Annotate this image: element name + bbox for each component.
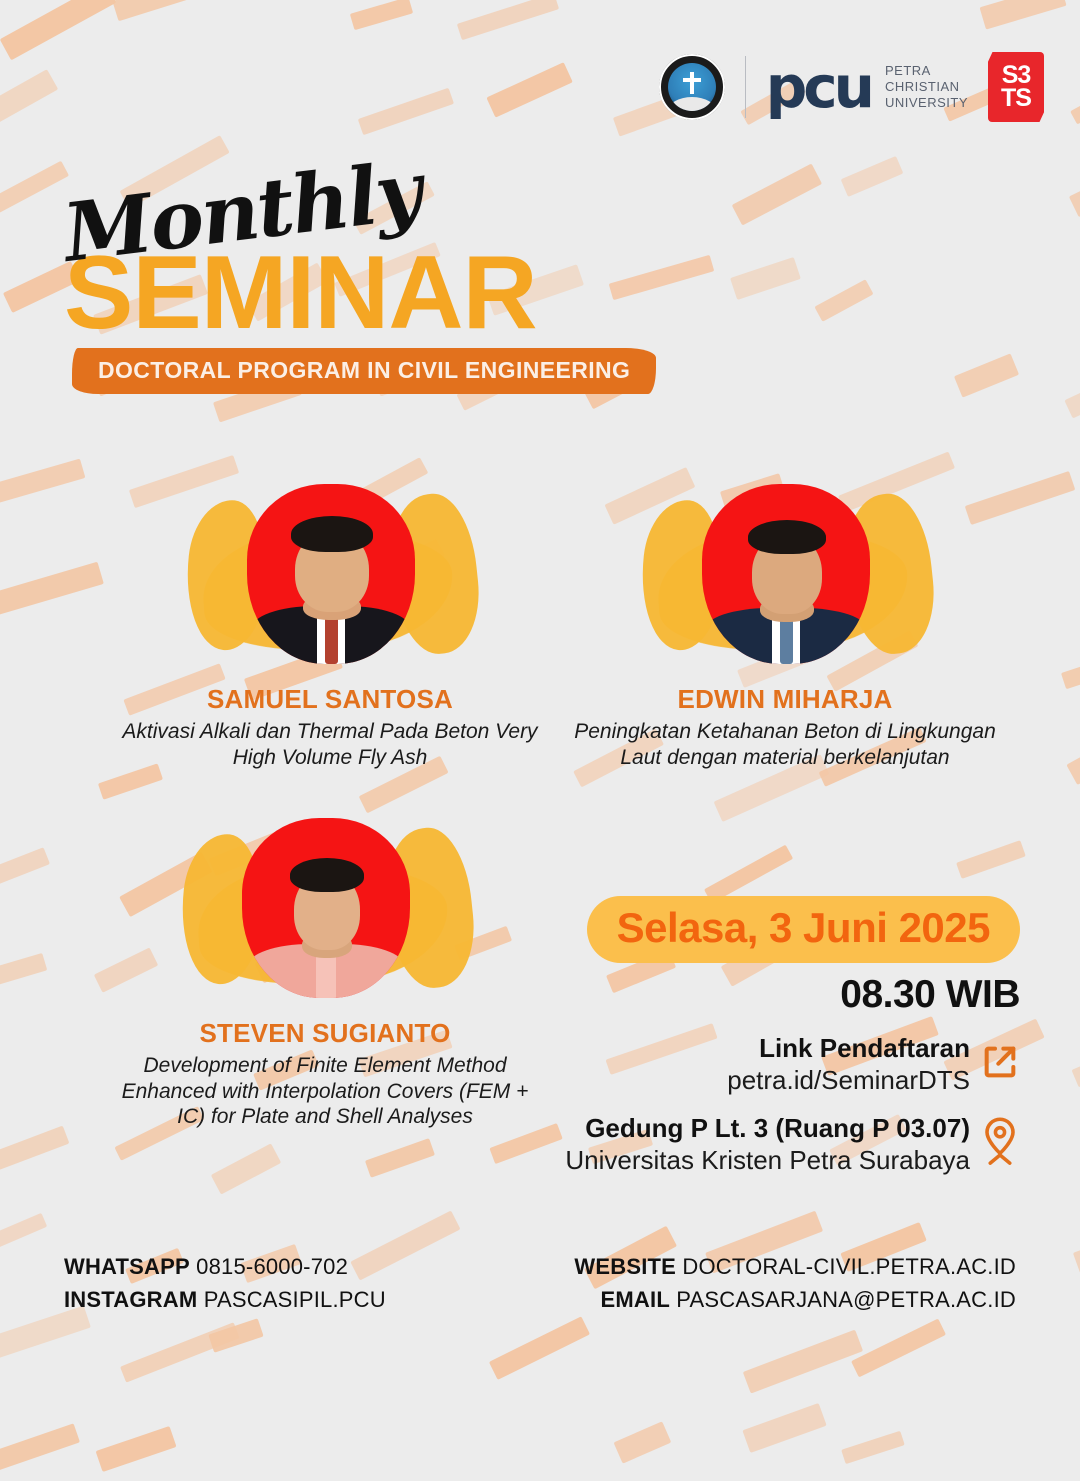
ukp-seal-logo <box>659 54 725 120</box>
event-details-panel: Selasa, 3 Juni 2025 08.30 WIB Link Penda… <box>560 896 1020 1176</box>
background-dash <box>120 1322 240 1383</box>
speaker-topic: Development of Finite Element Method Enh… <box>105 1053 545 1130</box>
background-dash <box>487 62 573 117</box>
title-block: Monthly SEMINAR DOCTORAL PROGRAM IN CIVI… <box>64 186 648 394</box>
background-dash <box>956 840 1026 879</box>
background-dash <box>1069 163 1080 216</box>
background-dash <box>851 1318 946 1377</box>
background-dash <box>743 1329 864 1393</box>
event-date-badge: Selasa, 3 Juni 2025 <box>587 896 1020 963</box>
logo-divider <box>745 56 746 118</box>
speaker-card: STEVEN SUGIANTO Development of Finite El… <box>105 812 545 1130</box>
registration-url[interactable]: petra.id/SeminarDTS <box>727 1064 970 1097</box>
background-dash <box>0 953 47 988</box>
background-dash <box>1066 726 1080 785</box>
footer-right: WEBSITE DOCTORAL-CIVIL.PETRA.AC.ID EMAIL… <box>574 1250 1016 1316</box>
background-dash <box>742 1403 826 1453</box>
email-value: PASCASARJANA@PETRA.AC.ID <box>676 1287 1016 1312</box>
background-dash <box>0 847 50 888</box>
title-subtitle-banner: DOCTORAL PROGRAM IN CIVIL ENGINEERING <box>72 348 656 394</box>
background-dash <box>0 458 85 511</box>
venue-room: Gedung P Lt. 3 (Ruang P 03.07) <box>565 1113 970 1144</box>
email-line: EMAIL PASCASARJANA@PETRA.AC.ID <box>574 1283 1016 1316</box>
background-dash <box>0 1126 70 1176</box>
event-time: 08.30 WIB <box>560 973 1020 1017</box>
registration-row[interactable]: Link Pendaftaran petra.id/SeminarDTS <box>560 1033 1020 1097</box>
avatar <box>247 484 415 664</box>
website-label: WEBSITE <box>574 1254 676 1279</box>
background-dash <box>0 69 58 138</box>
footer-left: WHATSAPP 0815-6000-702 INSTAGRAM PASCASI… <box>64 1250 386 1316</box>
pcu-wordmark: pcu <box>766 64 871 110</box>
instagram-line: INSTAGRAM PASCASIPIL.PCU <box>64 1283 386 1316</box>
pcu-name-line-3: UNIVERSITY <box>885 95 968 111</box>
background-dash <box>0 1213 47 1253</box>
background-dash <box>953 353 1018 397</box>
background-dash <box>1070 59 1080 125</box>
speaker-name: SAMUEL SANTOSA <box>115 684 545 715</box>
background-dash <box>112 0 225 21</box>
background-dash <box>1064 359 1080 418</box>
speaker-topic: Aktivasi Alkali dan Thermal Pada Beton V… <box>115 719 545 770</box>
pcu-fullname: PETRA CHRISTIAN UNIVERSITY <box>885 63 968 112</box>
background-dash <box>358 88 454 136</box>
whatsapp-label: WHATSAPP <box>64 1254 190 1279</box>
s3ts-caption: UNIVERSITAS KRISTEN PETRA <box>988 131 1044 145</box>
email-label: EMAIL <box>601 1287 670 1312</box>
pcu-name-line-1: PETRA <box>885 63 968 79</box>
cross-icon <box>690 72 694 94</box>
speaker-photo <box>690 478 880 668</box>
speaker-name: STEVEN SUGIANTO <box>105 1018 545 1049</box>
s3ts-logo: S3 TS UNIVERSITAS KRISTEN PETRA <box>988 52 1044 122</box>
speaker-card: SAMUEL SANTOSA Aktivasi Alkali dan Therm… <box>115 478 545 770</box>
speaker-card: EDWIN MIHARJA Peningkatan Ketahanan Beto… <box>565 478 1005 770</box>
whatsapp-line: WHATSAPP 0815-6000-702 <box>64 1250 386 1283</box>
pcu-logo: pcu PETRA CHRISTIAN UNIVERSITY <box>766 63 968 112</box>
speaker-topic: Peningkatan Ketahanan Beton di Lingkunga… <box>565 719 1005 770</box>
background-dash <box>96 1426 177 1472</box>
background-dash <box>1071 1029 1080 1087</box>
background-dash <box>731 164 821 226</box>
header-logo-bar: pcu PETRA CHRISTIAN UNIVERSITY S3 TS UNI… <box>659 52 1044 122</box>
s3ts-line-2: TS <box>1001 87 1031 110</box>
instagram-label: INSTAGRAM <box>64 1287 197 1312</box>
background-dash <box>1061 654 1080 689</box>
background-dash <box>210 1143 280 1194</box>
background-dash <box>489 1316 591 1380</box>
background-dash <box>0 1423 80 1481</box>
venue-row: Gedung P Lt. 3 (Ruang P 03.07) Universit… <box>560 1113 1020 1177</box>
hill-shape <box>668 97 716 111</box>
background-dash <box>614 1422 672 1465</box>
speaker-name: EDWIN MIHARJA <box>565 684 1005 715</box>
background-dash <box>841 156 903 197</box>
background-dash <box>0 562 103 617</box>
pcu-name-line-2: CHRISTIAN <box>885 79 968 95</box>
footer: WHATSAPP 0815-6000-702 INSTAGRAM PASCASI… <box>0 1250 1080 1316</box>
background-dash <box>457 0 559 40</box>
speaker-photo <box>235 478 425 668</box>
background-dash <box>0 0 116 60</box>
background-dash <box>704 844 793 903</box>
avatar <box>242 818 410 998</box>
instagram-value: PASCASIPIL.PCU <box>204 1287 386 1312</box>
venue-campus: Universitas Kristen Petra Surabaya <box>565 1144 970 1177</box>
whatsapp-value: 0815-6000-702 <box>196 1254 348 1279</box>
background-dash <box>365 1139 435 1179</box>
background-dash <box>208 1318 264 1353</box>
background-dash <box>980 0 1067 30</box>
registration-label: Link Pendaftaran <box>727 1033 970 1064</box>
background-dash <box>730 257 801 300</box>
speaker-photo <box>230 812 420 1002</box>
website-line: WEBSITE DOCTORAL-CIVIL.PETRA.AC.ID <box>574 1250 1016 1283</box>
location-pin-icon <box>980 1116 1020 1173</box>
background-dash <box>842 1431 905 1464</box>
background-dash <box>350 0 414 30</box>
website-value: DOCTORAL-CIVIL.PETRA.AC.ID <box>682 1254 1016 1279</box>
external-link-icon[interactable] <box>980 1042 1020 1087</box>
background-dash <box>814 279 873 322</box>
avatar <box>702 484 870 664</box>
